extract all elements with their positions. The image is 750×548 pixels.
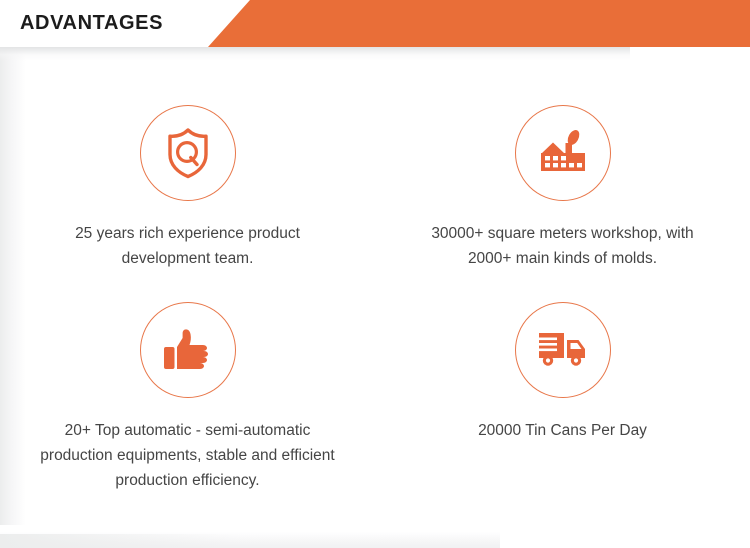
advantage-item-1: 25 years rich experience product develop… — [0, 70, 375, 267]
advantage-text-3: 20+ Top automatic - semi-automatic produ… — [28, 418, 348, 493]
header-drop-shadow — [0, 47, 630, 61]
advantage-text-2: 30000+ square meters workshop, with 2000… — [413, 221, 713, 271]
factory-icon — [515, 105, 611, 201]
advantage-item-4: 20000 Tin Cans Per Day — [375, 267, 750, 464]
delivery-truck-icon — [515, 302, 611, 398]
advantage-text-1: 25 years rich experience product develop… — [38, 221, 338, 271]
section-header: ADVANTAGES — [0, 0, 750, 47]
advantage-item-3: 20+ Top automatic - semi-automatic produ… — [0, 267, 375, 464]
quality-shield-icon — [140, 105, 236, 201]
thumbs-up-icon — [140, 302, 236, 398]
bottom-edge-gradient — [0, 532, 500, 548]
advantages-section: ADVANTAGES 25 years rich experience prod… — [0, 0, 750, 548]
page-title: ADVANTAGES — [20, 11, 163, 35]
header-title-tab: ADVANTAGES — [0, 0, 250, 47]
advantage-text-4: 20000 Tin Cans Per Day — [403, 418, 723, 443]
advantage-item-2: 30000+ square meters workshop, with 2000… — [375, 70, 750, 267]
advantages-grid: 25 years rich experience product develop… — [0, 70, 750, 464]
